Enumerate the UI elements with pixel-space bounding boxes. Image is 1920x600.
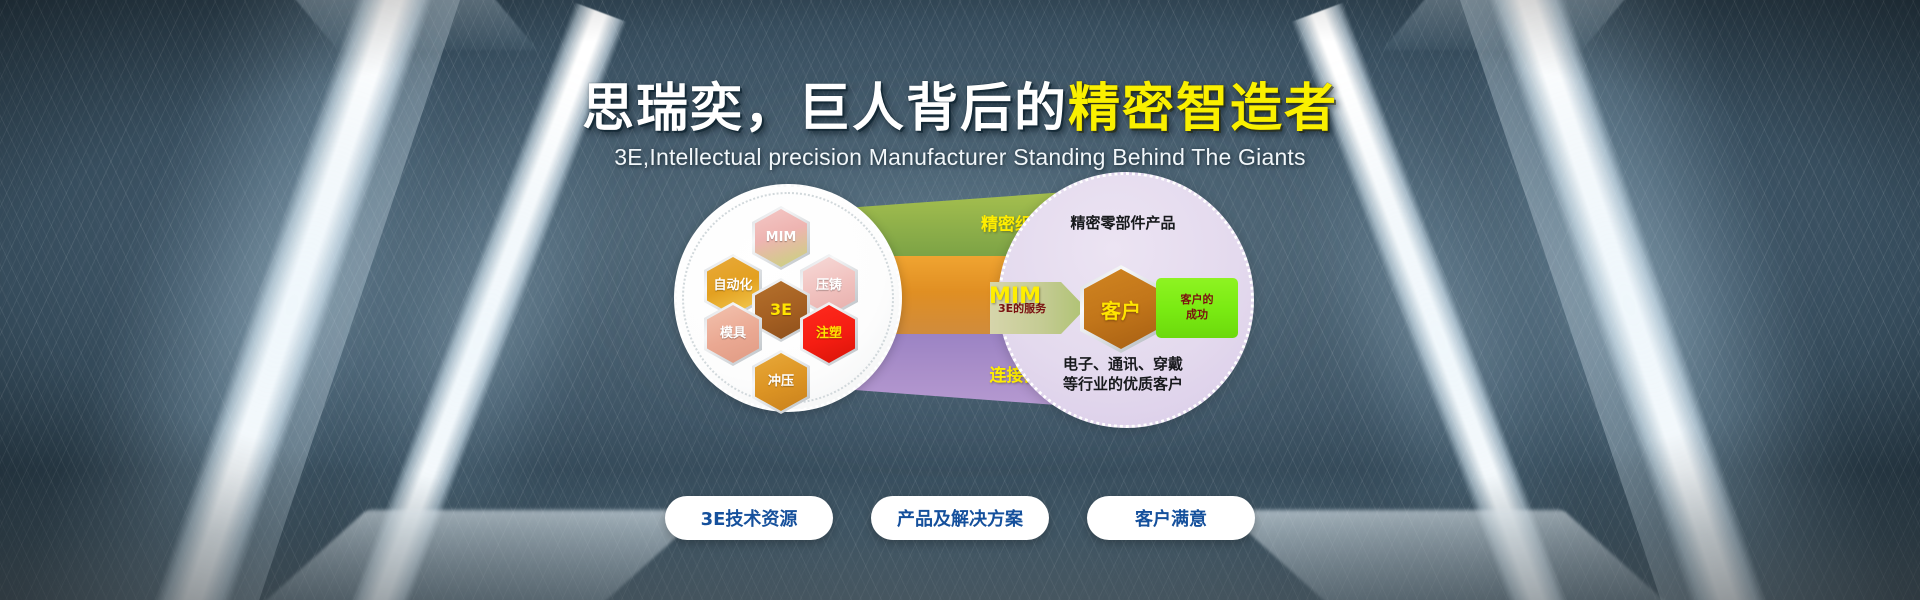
customer-circle-title: 精密零部件产品 [998,212,1248,233]
hexagon-injection-moulding-label: 注塑 [816,327,842,341]
customer-footer-line1: 电子、通讯、穿戴 [998,354,1248,374]
hexagon-mim-label: MIM [766,231,797,245]
headline-yellow-text: 精密智造者 [1068,79,1338,139]
customer-circle-footer: 电子、通讯、穿戴 等行业的优质客户 [998,354,1248,395]
band-mim-label: MIM [989,284,1041,309]
cta-button-group: 3E技术资源 产品及解决方案 客户满意 [0,496,1920,540]
customer-success-badge: 客户的 成功 [1156,278,1238,338]
page-subtitle: 3E,Intellectual precision Manufacturer S… [0,144,1920,171]
button-tech-resources[interactable]: 3E技术资源 [665,496,833,540]
customer-success-line1: 客户的 [1181,293,1214,308]
customer-footer-line2: 等行业的优质客户 [998,374,1248,394]
button-customer-satisfaction[interactable]: 客户满意 [1087,496,1255,540]
hexagon-die-casting-label: 压铸 [816,279,842,293]
headline-white-text: 思瑞奕，巨人背后的 [582,79,1068,139]
hexagon-3e-label: 3E [770,302,792,319]
page-title: 思瑞奕，巨人背后的精密智造者 [0,66,1920,141]
banner-hero: 思瑞奕，巨人背后的精密智造者 3E,Intellectual precision… [0,0,1920,600]
customer-hexagon-label: 客户 [1101,295,1141,324]
business-model-diagram: 精密组件 MIM 连接器 精密零部件产品 3E的服务 客户 客户的 成功 电子、… [680,188,1240,438]
hexagon-stamping-label: 冲压 [768,375,794,389]
hexagon-mould-label: 模具 [720,327,746,341]
button-product-solutions[interactable]: 产品及解决方案 [871,496,1049,540]
hexagon-automation-label: 自动化 [713,279,752,293]
customer-success-line2: 成功 [1186,308,1208,323]
